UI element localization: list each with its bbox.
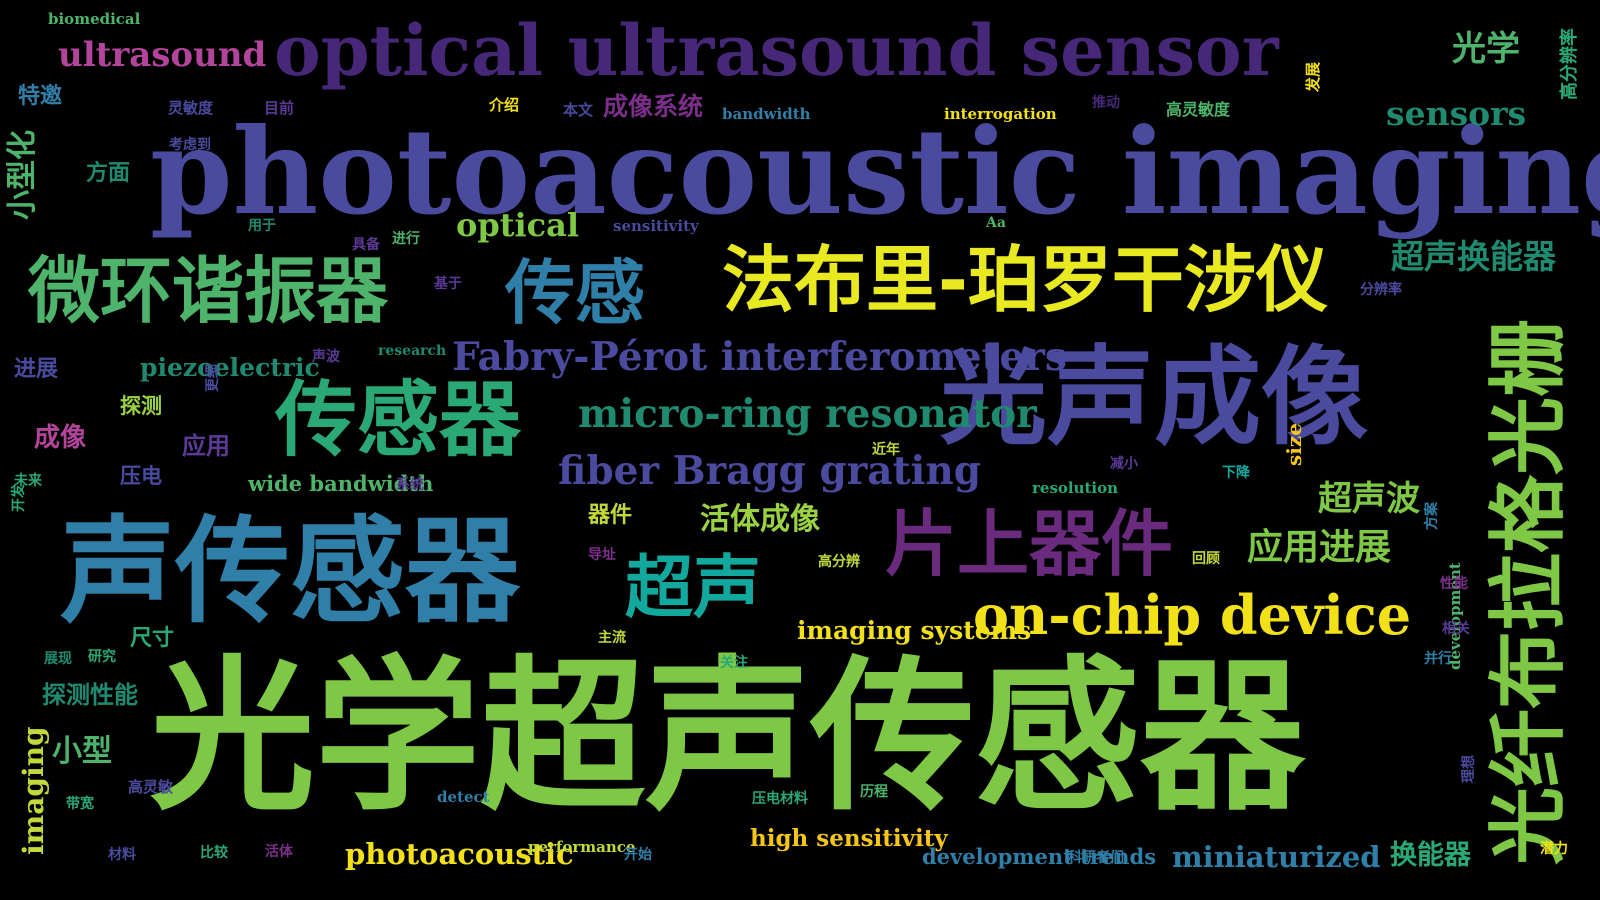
word-cloud-term: 回顾 <box>1192 552 1220 566</box>
word-cloud-term: 成像系统 <box>603 94 703 119</box>
word-cloud-term: resolution <box>1032 481 1118 496</box>
word-cloud-term: optical ultrasound sensor <box>274 16 1279 86</box>
word-cloud-term: 声波 <box>312 350 340 364</box>
word-cloud-term: 材料 <box>108 848 136 862</box>
word-cloud-term: size <box>1284 423 1304 466</box>
word-cloud-term: 更细 <box>206 364 220 392</box>
word-cloud-term: 高灵敏 <box>128 780 173 795</box>
word-cloud-term: 开发 <box>12 484 26 512</box>
word-cloud-term: 减小 <box>1110 457 1138 471</box>
word-cloud-term: 基于 <box>434 277 462 291</box>
word-cloud-term: 成像 <box>34 425 86 451</box>
word-cloud-term: 声传感器 <box>60 515 520 630</box>
word-cloud-term: 小型 <box>52 737 112 767</box>
word-cloud-term: 活体成像 <box>700 505 820 535</box>
word-cloud-term: 进展 <box>14 359 58 381</box>
word-cloud-term: fiber Bragg grating <box>558 452 981 491</box>
word-cloud-term: 应用 <box>182 434 230 458</box>
word-cloud-term: 目前 <box>264 101 294 116</box>
word-cloud-term: micro-ring resonator <box>578 395 1037 434</box>
word-cloud-term: 探测性能 <box>42 683 138 707</box>
word-cloud-term: imaging systems <box>797 618 1031 643</box>
word-cloud-term: 高分辨 <box>818 555 860 569</box>
word-cloud-term: 导址 <box>588 548 616 562</box>
word-cloud-term: high sensitivity <box>750 827 948 850</box>
word-cloud-term: sensors <box>1386 97 1526 130</box>
word-cloud-term: on-chip device <box>973 588 1411 642</box>
word-cloud-term: piezoelectric <box>140 355 320 380</box>
word-cloud-term: 超声波 <box>1318 482 1420 516</box>
word-cloud-term: 超声换能器 <box>1391 240 1556 273</box>
word-cloud-term: 传感器 <box>275 380 521 462</box>
word-cloud-term: 性能 <box>1440 577 1468 591</box>
word-cloud-term: 历程 <box>860 785 888 799</box>
word-cloud-term: 特邀 <box>18 86 62 108</box>
word-cloud-term: 灵敏度 <box>168 101 213 116</box>
word-cloud-term: 高灵敏度 <box>1166 102 1230 118</box>
word-cloud-term: 超声 <box>625 555 761 623</box>
word-cloud-term: miniaturized <box>1172 843 1381 872</box>
word-cloud-term: 片上器件 <box>885 508 1173 580</box>
word-cloud-term: 介绍 <box>489 98 519 113</box>
word-cloud-term: 研究 <box>88 650 116 664</box>
word-cloud-term: 关注 <box>720 656 748 670</box>
word-cloud-term: 本文 <box>563 103 593 118</box>
word-cloud-term: 活体 <box>265 845 293 859</box>
word-cloud-term: 进行 <box>392 232 420 246</box>
word-cloud-term: ultrasound <box>58 38 266 72</box>
word-cloud-term: 带宽 <box>66 797 94 811</box>
word-cloud-term: 开始 <box>624 848 652 862</box>
word-cloud-term: 并行 <box>1424 652 1452 666</box>
word-cloud-term: 探测 <box>120 396 162 417</box>
word-cloud-term: performance <box>528 840 635 855</box>
word-cloud-term: 下降 <box>1222 466 1250 480</box>
word-cloud-term: 微环谐振器 <box>28 255 388 327</box>
word-cloud-term: 系统 <box>396 478 424 492</box>
word-cloud-term: interrogation <box>944 107 1057 122</box>
word-cloud-term: 小型化 <box>8 130 38 220</box>
word-cloud-canvas: photoacoustic imagingoptical ultrasound … <box>0 0 1600 900</box>
word-cloud-term: 近年 <box>872 443 900 457</box>
word-cloud-term: 法布里-珀罗干涉仪 <box>722 244 1328 316</box>
word-cloud-term: 比较 <box>200 846 228 860</box>
word-cloud-term: 光学超声传感器 <box>150 655 1305 820</box>
word-cloud-term: Fabry-Pérot interferometers <box>452 338 1067 377</box>
word-cloud-term: 换能器 <box>1390 842 1471 869</box>
word-cloud-term: photoacoustic imaging <box>150 113 1600 231</box>
word-cloud-term: 方案 <box>1425 502 1439 530</box>
word-cloud-term: 压电材料 <box>752 792 808 806</box>
word-cloud-term: 用于 <box>248 219 276 233</box>
word-cloud-term: Aa <box>986 216 1006 230</box>
word-cloud-term: biomedical <box>48 12 140 27</box>
word-cloud-term: 具备 <box>352 238 380 252</box>
word-cloud-term: 推动 <box>1092 96 1120 110</box>
word-cloud-term: 光学 <box>1452 32 1520 66</box>
word-cloud-term: detect <box>437 790 490 805</box>
word-cloud-term: 应用进展 <box>1247 530 1391 566</box>
word-cloud-term: 理想 <box>1462 755 1476 783</box>
word-cloud-term: 器件 <box>588 505 632 527</box>
word-cloud-term: 潜力 <box>1540 842 1568 856</box>
word-cloud-term: optical <box>456 209 579 241</box>
word-cloud-term: 尺寸 <box>130 628 174 650</box>
word-cloud-term: 高分辨率 <box>1561 28 1579 100</box>
word-cloud-term: 压电 <box>120 466 162 487</box>
word-cloud-term: 发展 <box>1306 62 1321 92</box>
word-cloud-term: sensitivity <box>613 219 699 234</box>
word-cloud-term: 方面 <box>86 163 130 185</box>
word-cloud-term: imaging <box>20 726 48 855</box>
word-cloud-term: 科研者们 <box>1068 851 1124 865</box>
word-cloud-term: 分辨率 <box>1360 283 1402 297</box>
word-cloud-term: 主流 <box>598 631 626 645</box>
word-cloud-term: 光纤布拉格光栅 <box>1490 319 1568 865</box>
word-cloud-term: 相关 <box>1442 622 1470 636</box>
word-cloud-term: 展现 <box>44 652 72 666</box>
word-cloud-term: bandwidth <box>722 107 811 122</box>
word-cloud-term: 考虑到 <box>169 138 211 152</box>
word-cloud-term: research <box>378 344 446 358</box>
word-cloud-term: 传感 <box>505 258 645 328</box>
